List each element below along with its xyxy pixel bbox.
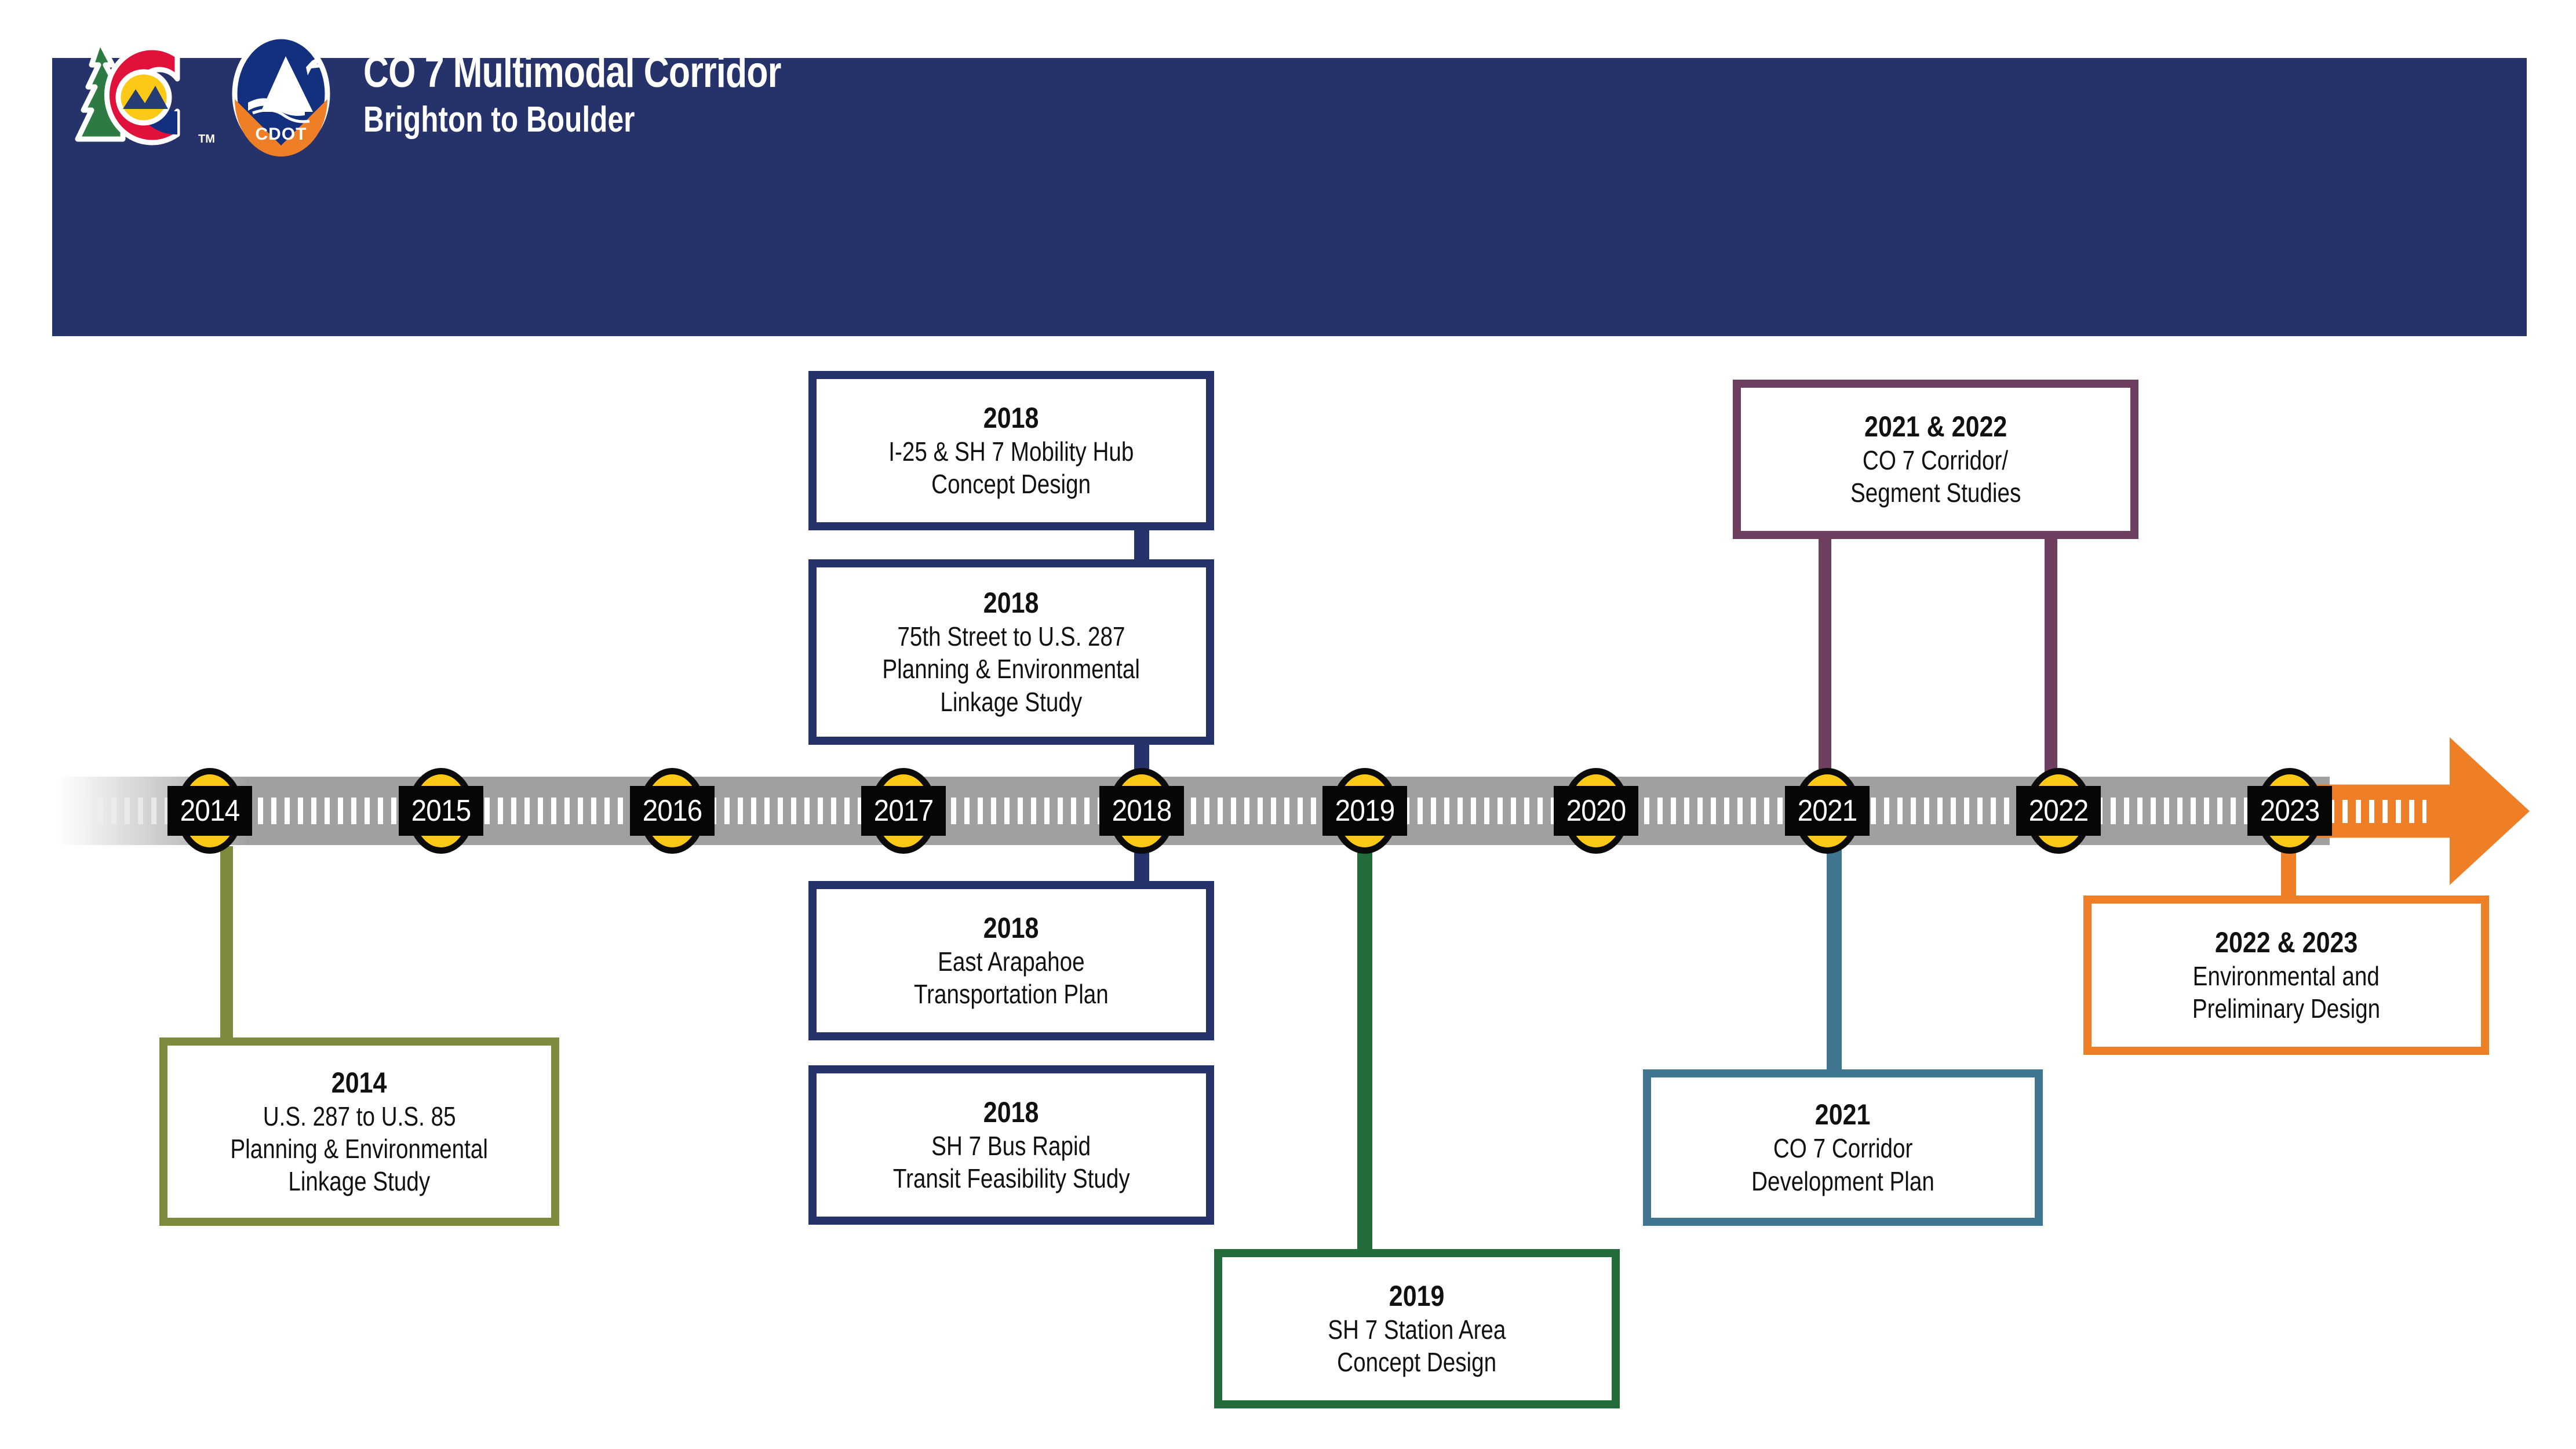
callout-line: Concept Design bbox=[932, 468, 1091, 500]
year-label: 2016 bbox=[633, 786, 711, 836]
year-label: 2015 bbox=[402, 786, 480, 836]
callout-pel-287-85[interactable]: 2014 U.S. 287 to U.S. 85 Planning & Envi… bbox=[159, 1037, 559, 1226]
callout-brt-feasibility[interactable]: 2018 SH 7 Bus Rapid Transit Feasibility … bbox=[808, 1065, 1214, 1225]
callout-line: Transportation Plan bbox=[914, 978, 1109, 1010]
year-label: 2014 bbox=[171, 786, 249, 836]
callout-line: Concept Design bbox=[1338, 1346, 1497, 1378]
callout-line: CO 7 Corridor bbox=[1773, 1132, 1912, 1164]
callout-year: 2018 bbox=[983, 1095, 1039, 1130]
callout-line: East Arapahoe bbox=[938, 945, 1085, 978]
callout-corridor-segment-studies[interactable]: 2021 & 2022 CO 7 Corridor/ Segment Studi… bbox=[1733, 380, 2138, 539]
year-label: 2018 bbox=[1103, 786, 1180, 836]
callout-mobility-hub[interactable]: 2018 I-25 & SH 7 Mobility Hub Concept De… bbox=[808, 371, 1214, 530]
callout-year: 2021 & 2022 bbox=[1864, 410, 2007, 444]
callout-line: 75th Street to U.S. 287 bbox=[897, 620, 1125, 653]
callout-line: Environmental and bbox=[2193, 960, 2380, 992]
cdot-logo: CDOT bbox=[231, 32, 332, 156]
year-label: 2023 bbox=[2251, 786, 2329, 836]
callout-east-arapahoe[interactable]: 2018 East Arapahoe Transportation Plan bbox=[808, 881, 1214, 1040]
callout-line: Planning & Environmental bbox=[231, 1133, 489, 1165]
callout-year: 2014 bbox=[331, 1066, 387, 1100]
year-label: 2022 bbox=[2020, 786, 2097, 836]
callout-year: 2021 bbox=[1815, 1098, 1871, 1132]
callout-line: Linkage Study bbox=[289, 1165, 431, 1197]
callout-corridor-dev-plan[interactable]: 2021 CO 7 Corridor Development Plan bbox=[1643, 1069, 2043, 1226]
connector-2014-olive bbox=[220, 846, 233, 1037]
colorado-c-logo: TM bbox=[70, 29, 214, 159]
year-label: 2020 bbox=[1557, 786, 1635, 836]
callout-line: Preliminary Design bbox=[2192, 992, 2380, 1025]
callout-year: 2018 bbox=[983, 401, 1039, 435]
year-label: 2017 bbox=[865, 786, 942, 836]
connector-2019-green bbox=[1357, 829, 1372, 1252]
svg-text:TM: TM bbox=[198, 133, 214, 145]
callout-line: I-25 & SH 7 Mobility Hub bbox=[888, 435, 1134, 468]
brand-subtitle: Brighton to Boulder bbox=[363, 101, 781, 139]
callout-line: CO 7 Corridor/ bbox=[1863, 444, 2008, 476]
brand-title: CO 7 Multimodal Corridor bbox=[363, 50, 781, 95]
year-label: 2021 bbox=[1788, 786, 1866, 836]
callout-line: Linkage Study bbox=[941, 686, 1083, 718]
callout-env-prelim-design[interactable]: 2022 & 2023 Environmental and Preliminar… bbox=[2083, 895, 2489, 1055]
callout-line: Segment Studies bbox=[1850, 476, 2021, 509]
callout-year: 2018 bbox=[983, 586, 1039, 620]
callout-line: SH 7 Station Area bbox=[1328, 1313, 1506, 1346]
svg-text:CDOT: CDOT bbox=[256, 125, 307, 144]
connector-2021-teal bbox=[1827, 829, 1842, 1072]
callout-year: 2018 bbox=[983, 911, 1039, 945]
callout-line: U.S. 287 to U.S. 85 bbox=[263, 1100, 456, 1133]
callout-line: Development Plan bbox=[1751, 1165, 1934, 1197]
callout-pel-75th-287[interactable]: 2018 75th Street to U.S. 287 Planning & … bbox=[808, 559, 1214, 745]
brand-block: TM CDOT CO 7 Multimodal Corridor Brighto… bbox=[70, 29, 886, 159]
callout-station-area[interactable]: 2019 SH 7 Station Area Concept Design bbox=[1214, 1249, 1620, 1408]
callout-line: SH 7 Bus Rapid bbox=[932, 1130, 1091, 1162]
callout-line: Transit Feasibility Study bbox=[893, 1162, 1130, 1195]
callout-year: 2022 & 2023 bbox=[2215, 926, 2358, 960]
callout-line: Planning & Environmental bbox=[883, 653, 1141, 685]
brand-text: CO 7 Multimodal Corridor Brighton to Bou… bbox=[363, 50, 886, 139]
year-label: 2019 bbox=[1326, 786, 1404, 836]
callout-year: 2019 bbox=[1389, 1279, 1445, 1313]
